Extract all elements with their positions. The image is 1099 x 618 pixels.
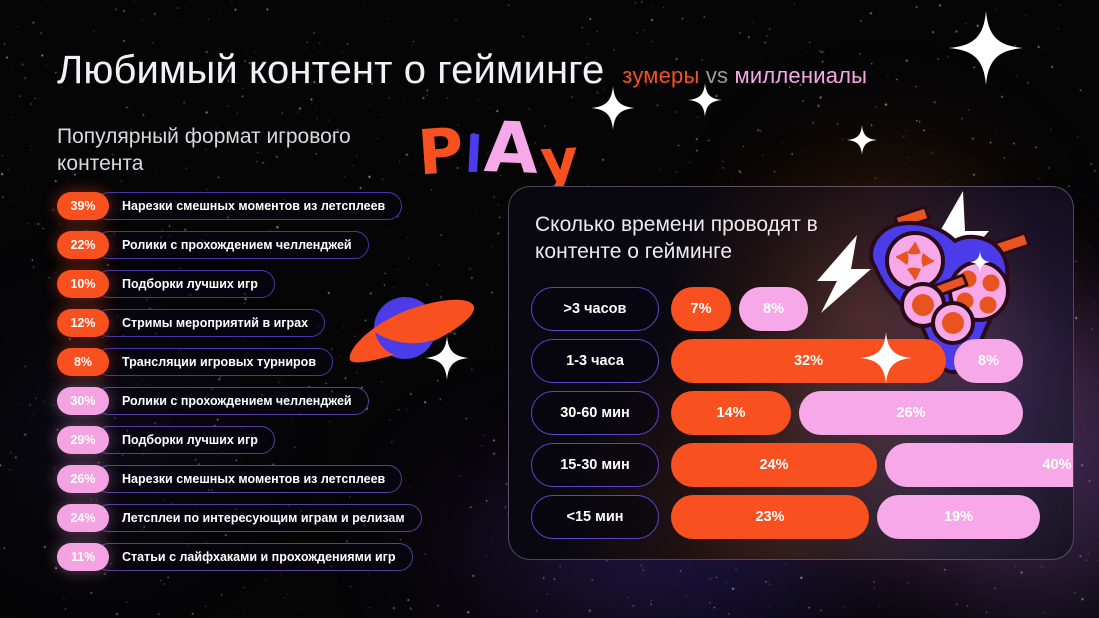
percent-badge: 12% bbox=[57, 309, 109, 337]
percent-badge: 10% bbox=[57, 270, 109, 298]
chart-bar-millennials: 40% bbox=[885, 443, 1074, 487]
subtitle-zoomers: зумеры bbox=[622, 63, 699, 88]
list-item: 29%Подборки лучших игр bbox=[57, 426, 422, 454]
list-item-label: Нарезки смешных моментов из летсплеев bbox=[95, 465, 402, 493]
percent-badge: 39% bbox=[57, 192, 109, 220]
percent-badge: 30% bbox=[57, 387, 109, 415]
percent-badge: 24% bbox=[57, 504, 109, 532]
chart-bar-zoomers: 24% bbox=[671, 443, 877, 487]
list-item: 10%Подборки лучших игр bbox=[57, 270, 402, 298]
chart-bar-zoomers: 23% bbox=[671, 495, 869, 539]
percent-badge: 22% bbox=[57, 231, 109, 259]
page-title: Любимый контент о гейминге bbox=[57, 48, 604, 93]
list-item: 26%Нарезки смешных моментов из летсплеев bbox=[57, 465, 422, 493]
list-item-label: Подборки лучших игр bbox=[95, 426, 275, 454]
list-item: 11%Статьи с лайфхаками и прохождениями и… bbox=[57, 543, 422, 571]
time-spent-panel: Сколько времени проводят в контенте о ге… bbox=[508, 186, 1074, 560]
poster-canvas: Любимый контент о гейминге зумеры vs мил… bbox=[0, 0, 1099, 618]
chart-bars: 14%26% bbox=[671, 391, 1023, 435]
list-item: 22%Ролики с прохождением челленджей bbox=[57, 231, 402, 259]
chart-bar-zoomers: 14% bbox=[671, 391, 791, 435]
left-section-heading: Популярный формат игрового контента bbox=[57, 124, 407, 178]
list-item-label: Ролики с прохождением челленджей bbox=[95, 387, 369, 415]
chart-bars: 7%8% bbox=[671, 287, 808, 331]
time-spent-chart: >3 часов7%8%1-3 часа32%8%30-60 мин14%26%… bbox=[531, 287, 1055, 547]
panel-title: Сколько времени проводят в контенте о ге… bbox=[535, 211, 865, 266]
list-item-label: Подборки лучших игр bbox=[95, 270, 275, 298]
chart-bar-millennials: 8% bbox=[739, 287, 808, 331]
list-item: 8%Трансляции игровых турниров bbox=[57, 348, 402, 376]
list-item-label: Летсплеи по интересующим играм и релизам bbox=[95, 504, 422, 532]
header: Любимый контент о гейминге зумеры vs мил… bbox=[57, 48, 867, 93]
chart-category-label: >3 часов bbox=[531, 287, 659, 331]
zoomers-format-list: 39%Нарезки смешных моментов из летсплеев… bbox=[57, 192, 402, 387]
chart-row: 30-60 мин14%26% bbox=[531, 391, 1055, 435]
subtitle-millennials: миллениалы bbox=[735, 63, 868, 88]
chart-bars: 32%8% bbox=[671, 339, 1023, 383]
percent-badge: 8% bbox=[57, 348, 109, 376]
list-item: 24%Летсплеи по интересующим играм и рели… bbox=[57, 504, 422, 532]
millennials-format-list: 30%Ролики с прохождением челленджей29%По… bbox=[57, 387, 422, 582]
percent-badge: 11% bbox=[57, 543, 109, 571]
percent-badge: 26% bbox=[57, 465, 109, 493]
chart-bar-millennials: 8% bbox=[954, 339, 1023, 383]
percent-badge: 29% bbox=[57, 426, 109, 454]
list-item: 39%Нарезки смешных моментов из летсплеев bbox=[57, 192, 402, 220]
list-item: 12%Стримы мероприятий в играх bbox=[57, 309, 402, 337]
chart-bar-millennials: 19% bbox=[877, 495, 1040, 539]
chart-bars: 24%40% bbox=[671, 443, 1074, 487]
chart-category-label: 1-3 часа bbox=[531, 339, 659, 383]
chart-category-label: <15 мин bbox=[531, 495, 659, 539]
list-item-label: Ролики с прохождением челленджей bbox=[95, 231, 369, 259]
chart-category-label: 15-30 мин bbox=[531, 443, 659, 487]
list-item-label: Нарезки смешных моментов из летсплеев bbox=[95, 192, 402, 220]
chart-bars: 23%19% bbox=[671, 495, 1040, 539]
chart-category-label: 30-60 мин bbox=[531, 391, 659, 435]
chart-bar-zoomers: 32% bbox=[671, 339, 946, 383]
chart-row: >3 часов7%8% bbox=[531, 287, 1055, 331]
list-item-label: Трансляции игровых турниров bbox=[95, 348, 333, 376]
chart-row: 15-30 мин24%40% bbox=[531, 443, 1055, 487]
chart-row: 1-3 часа32%8% bbox=[531, 339, 1055, 383]
list-item: 30%Ролики с прохождением челленджей bbox=[57, 387, 422, 415]
subtitle-vs: vs bbox=[706, 63, 728, 88]
chart-row: <15 мин23%19% bbox=[531, 495, 1055, 539]
audience-subtitle: зумеры vs миллениалы bbox=[622, 63, 867, 89]
chart-bar-zoomers: 7% bbox=[671, 287, 731, 331]
list-item-label: Статьи с лайфхаками и прохождениями игр bbox=[95, 543, 413, 571]
chart-bar-millennials: 26% bbox=[799, 391, 1023, 435]
list-item-label: Стримы мероприятий в играх bbox=[95, 309, 325, 337]
